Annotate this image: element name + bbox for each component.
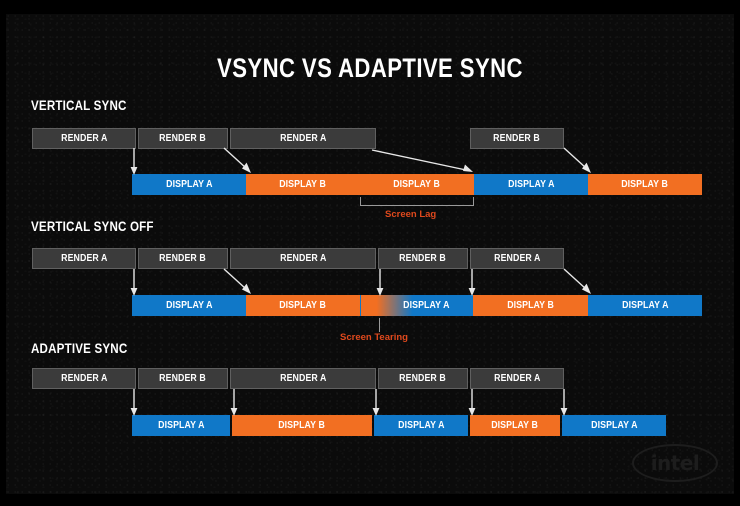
display-bar: DISPLAY B (246, 174, 360, 195)
flow-arrow-icon (372, 269, 394, 299)
letterbox-right (734, 0, 740, 506)
display-bar: DISPLAY A (588, 295, 702, 316)
page-title: VSYNC VS ADAPTIVE SYNC (67, 53, 674, 84)
flow-arrow-icon (222, 269, 258, 299)
vsync-infographic: VSYNC VS ADAPTIVE SYNC VERTICAL SYNC REN… (0, 0, 740, 506)
render-bar: RENDER B (138, 368, 228, 389)
render-bar: RENDER A (470, 248, 564, 269)
screen-tearing-tick (379, 318, 380, 332)
flow-arrow-icon (226, 389, 248, 419)
logo-wordmark: intel (632, 444, 718, 482)
flow-arrow-icon (562, 148, 598, 178)
display-bar: DISPLAY B (588, 174, 702, 195)
screen-tearing-annotation: Screen Tearing (340, 332, 408, 343)
flow-arrow-icon (464, 269, 486, 299)
flow-arrow-icon (370, 148, 480, 178)
render-bar: RENDER A (230, 368, 376, 389)
render-bar: RENDER A (230, 128, 376, 149)
render-bar: RENDER B (470, 128, 564, 149)
section-label-vertical-sync-off: VERTICAL SYNC OFF (31, 219, 154, 234)
letterbox-left (0, 0, 6, 506)
flow-arrow-icon (562, 269, 598, 299)
display-bar: DISPLAY B (232, 415, 372, 436)
render-bar: RENDER A (470, 368, 564, 389)
section-label-adaptive-sync: ADAPTIVE SYNC (31, 341, 127, 356)
section-label-vertical-sync: VERTICAL SYNC (31, 98, 127, 113)
flow-arrow-icon (556, 389, 578, 419)
flow-arrow-icon (222, 148, 258, 178)
flow-arrow-icon (126, 148, 148, 178)
render-bar: RENDER A (32, 128, 136, 149)
render-bar: RENDER A (32, 368, 136, 389)
render-bar: RENDER B (378, 248, 468, 269)
screen-lag-bracket (360, 197, 474, 206)
flow-arrow-icon (126, 389, 148, 419)
display-bar: DISPLAY B (246, 295, 360, 316)
intel-oval-logo-icon: intel (632, 444, 718, 482)
letterbox-top (0, 0, 740, 14)
render-bar: RENDER A (32, 248, 136, 269)
render-bar: RENDER B (138, 128, 228, 149)
render-bar: RENDER A (230, 248, 376, 269)
flow-arrow-icon (126, 269, 148, 299)
flow-arrow-icon (464, 389, 486, 419)
render-bar: RENDER B (378, 368, 468, 389)
render-bar: RENDER B (138, 248, 228, 269)
letterbox-bottom (0, 494, 740, 506)
flow-arrow-icon (368, 389, 390, 419)
screen-lag-annotation: Screen Lag (385, 209, 436, 220)
